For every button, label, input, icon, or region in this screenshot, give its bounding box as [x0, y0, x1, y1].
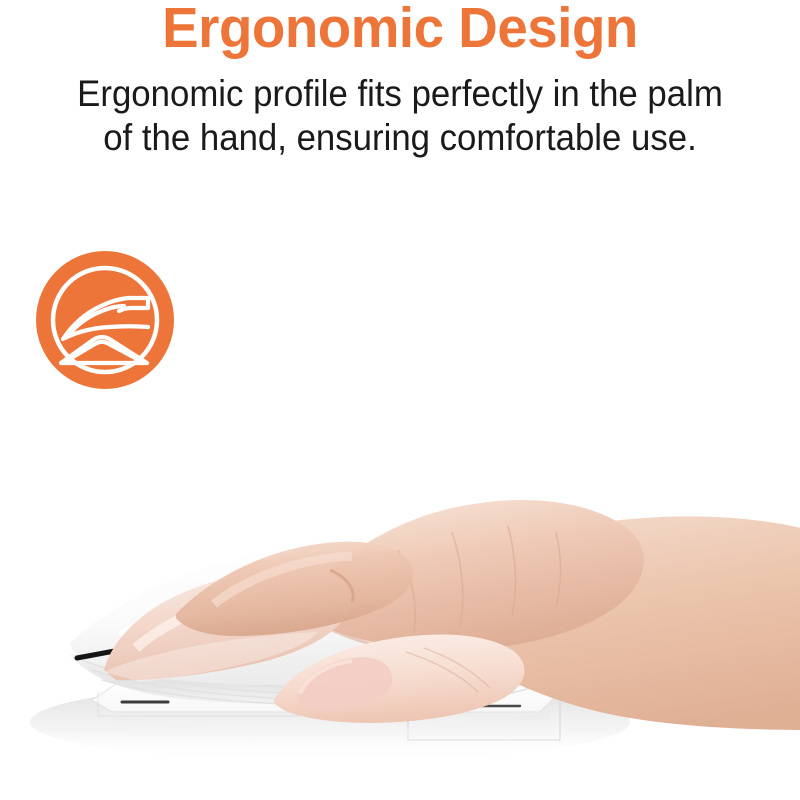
- hand-on-mouse-icon: [35, 250, 175, 390]
- page-title: Ergonomic Design: [16, 0, 784, 58]
- photo-bottom-fade: [0, 756, 800, 800]
- product-photo: [0, 400, 800, 800]
- badge-disc: [36, 251, 174, 389]
- page-subtitle: Ergonomic profile fits perfectly in the …: [24, 72, 776, 160]
- hand-on-mouse-photo: [0, 400, 800, 800]
- page-subtitle-line-1: Ergonomic profile fits perfectly in the …: [24, 72, 776, 116]
- feature-panel: Ergonomic Design Ergonomic profile fits …: [0, 0, 800, 800]
- ergonomic-badge: [35, 250, 175, 390]
- page-subtitle-line-2: of the hand, ensuring comfortable use.: [24, 116, 776, 160]
